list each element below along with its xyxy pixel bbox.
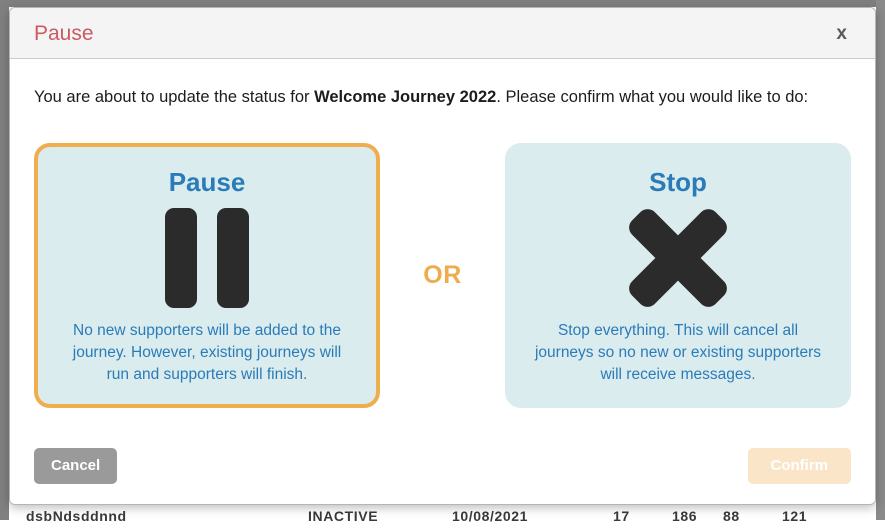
option-card-pause-description: No new supporters will be added to the j… xyxy=(56,320,358,386)
background-cell-status: INACTIVE xyxy=(308,508,378,524)
background-cell-metric-1: 17 xyxy=(613,508,630,524)
viewport-edge-left xyxy=(0,0,9,520)
option-card-stop[interactable]: Stop Stop everything. This will cancel a… xyxy=(505,143,851,408)
close-icon[interactable]: x xyxy=(830,22,853,45)
viewport-edge-top xyxy=(0,0,885,7)
viewport-edge-right xyxy=(876,0,885,520)
option-card-pause[interactable]: Pause No new supporters will be added to… xyxy=(34,143,380,408)
background-table-row: dsbNdsddnnd INACTIVE 10/08/2021 17 186 8… xyxy=(0,508,885,530)
option-card-pause-title: Pause xyxy=(169,168,246,197)
modal-footer: Cancel Confirm xyxy=(10,436,875,504)
modal-body: You are about to update the status for W… xyxy=(10,59,875,436)
journey-name: Welcome Journey 2022 xyxy=(314,88,496,106)
option-card-stop-title: Stop xyxy=(649,168,707,197)
background-cell-name: dsbNdsddnnd xyxy=(26,508,127,524)
background-cell-metric-2: 186 xyxy=(672,508,697,524)
confirmation-message-suffix: . Please confirm what you would like to … xyxy=(496,88,808,106)
confirmation-message-prefix: You are about to update the status for xyxy=(34,88,314,106)
modal-header: Pause x xyxy=(10,8,875,59)
modal-title: Pause xyxy=(34,23,830,44)
option-cards: Pause No new supporters will be added to… xyxy=(34,143,851,408)
stop-x-icon xyxy=(527,196,829,319)
background-cell-date: 10/08/2021 xyxy=(452,508,528,524)
confirmation-message: You are about to update the status for W… xyxy=(34,85,844,110)
or-divider: OR xyxy=(380,261,505,290)
pause-journey-modal: Pause x You are about to update the stat… xyxy=(9,7,876,505)
cancel-button[interactable]: Cancel xyxy=(34,448,117,484)
background-cell-metric-3: 88 xyxy=(723,508,740,524)
confirm-button[interactable]: Confirm xyxy=(748,448,852,484)
background-cell-metric-4: 121 xyxy=(782,508,807,524)
pause-icon xyxy=(56,196,358,319)
option-card-stop-description: Stop everything. This will cancel all jo… xyxy=(527,320,829,386)
